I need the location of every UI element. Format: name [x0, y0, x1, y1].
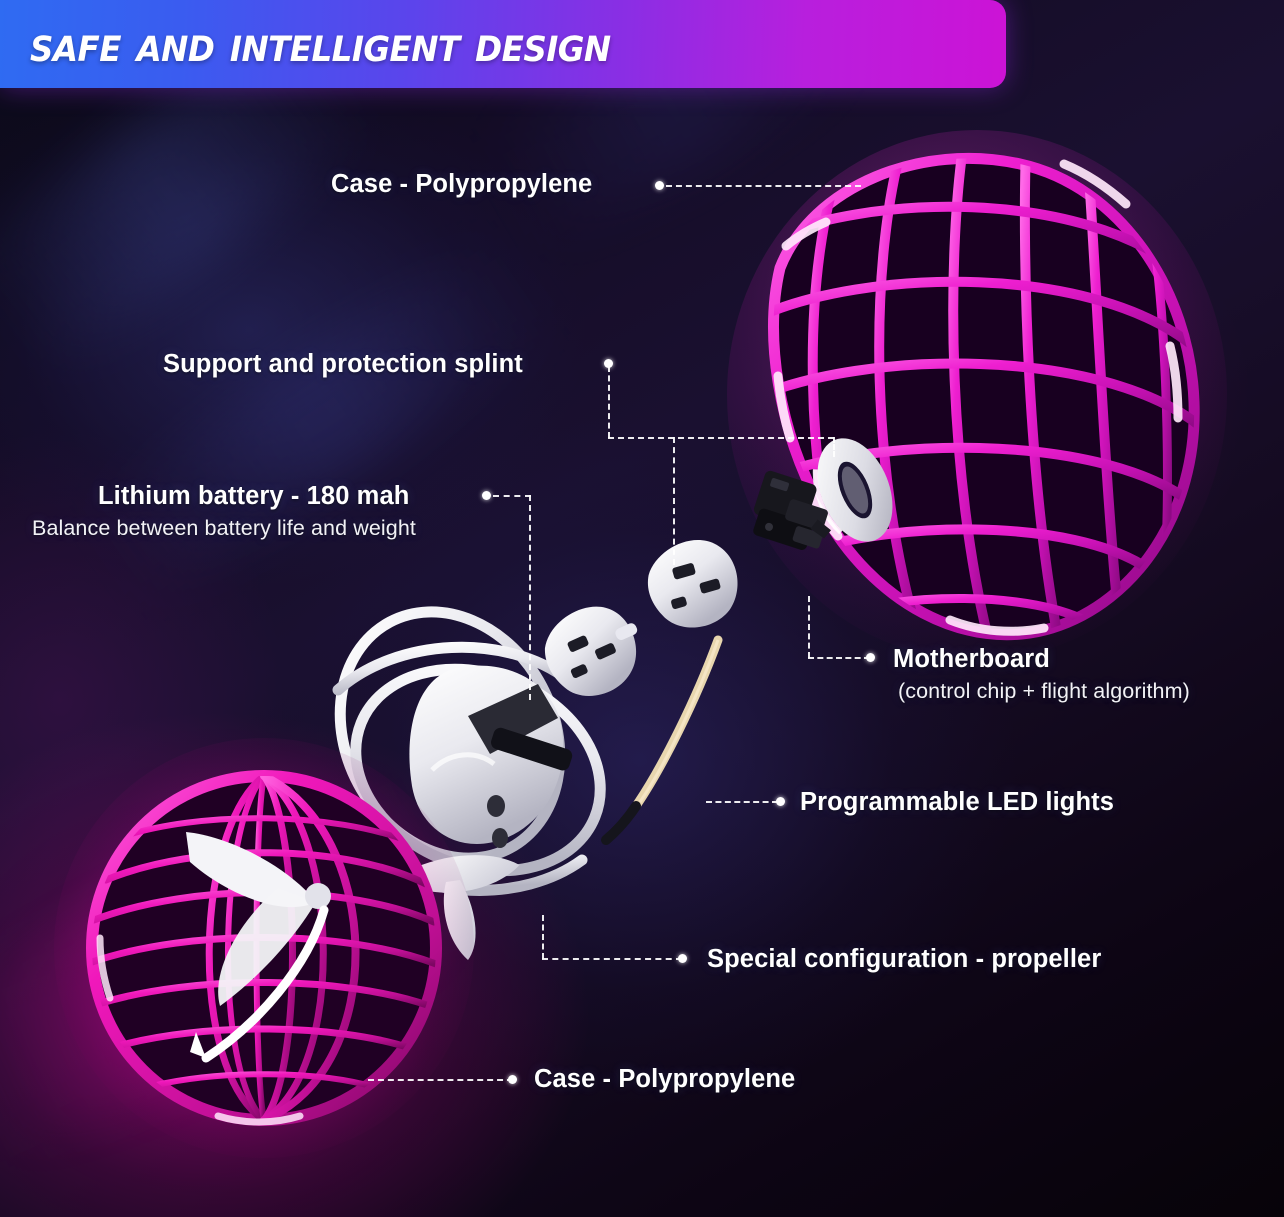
leader-line-led [706, 801, 778, 803]
callout-led: Programmable LED lights [800, 788, 1114, 817]
callout-motherboard-subtitle: (control chip + flight algorithm) [898, 679, 1190, 704]
leader-line-splint-v2 [833, 437, 835, 457]
leader-dot-case-top [655, 181, 664, 190]
leader-line-propeller-v [542, 915, 544, 959]
leader-line-splint-branch [673, 437, 675, 565]
callout-motherboard-title: Motherboard [893, 645, 1190, 674]
callout-case-bottom: Case - Polypropylene [534, 1065, 795, 1094]
black-motherboard-module [738, 466, 848, 576]
callout-case-bottom-title: Case - Polypropylene [534, 1065, 795, 1094]
callout-battery-title: Lithium battery - 180 mah [98, 482, 416, 511]
leader-line-splint-v1 [608, 366, 610, 438]
led-light-strip [600, 640, 770, 840]
page-title: Safe and Intelligent Design [30, 15, 611, 73]
callout-support-splint-title: Support and protection splint [163, 350, 523, 379]
leader-line-battery-v [529, 495, 531, 700]
leader-dot-battery [482, 491, 491, 500]
leader-dot-motherboard [866, 653, 875, 662]
callout-propeller-title: Special configuration - propeller [707, 945, 1101, 974]
leader-line-motherboard-h [808, 657, 870, 659]
leader-line-propeller-h [542, 958, 682, 960]
leader-line-case-bottom [368, 1079, 513, 1081]
callout-battery-subtitle: Balance between battery life and weight [32, 516, 416, 541]
header-banner: Safe and Intelligent Design [0, 0, 1006, 88]
callout-case-top: Case - Polypropylene [331, 170, 592, 199]
leader-line-splint-h [608, 437, 834, 439]
leader-line-case-top [666, 185, 861, 187]
callout-support-splint: Support and protection splint [163, 350, 523, 379]
lower-magenta-cage-shell [78, 770, 470, 1130]
leader-line-motherboard-v [808, 596, 810, 658]
callout-motherboard: Motherboard (control chip + flight algor… [893, 645, 1190, 704]
callout-led-title: Programmable LED lights [800, 788, 1114, 817]
callout-battery: Lithium battery - 180 mah Balance betwee… [98, 482, 416, 541]
callout-propeller: Special configuration - propeller [707, 945, 1101, 974]
leader-dot-case-bottom [508, 1075, 517, 1084]
callout-case-top-title: Case - Polypropylene [331, 170, 592, 199]
leader-line-battery-h [493, 495, 531, 497]
leader-dot-led [776, 797, 785, 806]
infographic-canvas: Safe and Intelligent Design [0, 0, 1284, 1217]
leader-dot-propeller [678, 954, 687, 963]
